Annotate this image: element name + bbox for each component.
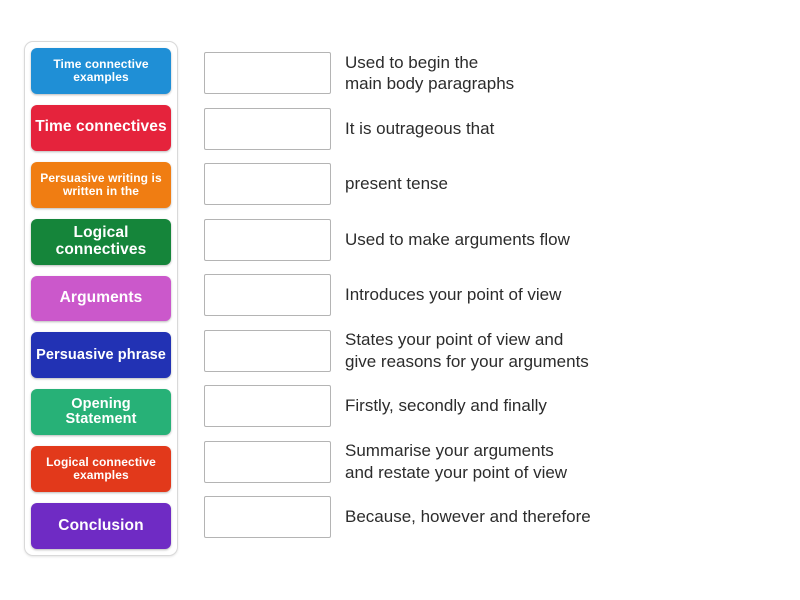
prompt-text: Used to begin the main body paragraphs — [345, 52, 784, 95]
answer-dropzone[interactable] — [204, 219, 331, 261]
answer-dropzone[interactable] — [204, 330, 331, 372]
draggable-tile[interactable]: Time connective examples — [31, 48, 171, 94]
prompt-text: present tense — [345, 173, 784, 195]
prompt-text: Used to make arguments flow — [345, 229, 784, 251]
tile-label: Opening Statement — [35, 397, 167, 428]
tile-label: Logical connective examples — [35, 456, 167, 482]
answer-dropzone[interactable] — [204, 496, 331, 538]
tile-label: Time connectives — [35, 119, 166, 136]
tile-label: Persuasive writing is written in the — [35, 172, 167, 198]
prompt-text: Summarise your arguments and restate you… — [345, 440, 784, 483]
draggable-tile[interactable]: Time connectives — [31, 105, 171, 151]
answer-dropzone[interactable] — [204, 52, 331, 94]
answer-rows: Used to begin the main body paragraphs I… — [204, 52, 784, 538]
draggable-tile[interactable]: Logical connective examples — [31, 446, 171, 492]
answer-dropzone[interactable] — [204, 274, 331, 316]
tile-label: Conclusion — [58, 518, 143, 535]
tile-bank: Time connective examples Time connective… — [24, 41, 178, 556]
match-row: Used to begin the main body paragraphs — [204, 52, 784, 94]
match-up-activity: Time connective examples Time connective… — [0, 0, 800, 600]
answer-dropzone[interactable] — [204, 163, 331, 205]
match-row: Summarise your arguments and restate you… — [204, 441, 784, 483]
prompt-text: Introduces your point of view — [345, 284, 784, 306]
draggable-tile[interactable]: Persuasive writing is written in the — [31, 162, 171, 208]
match-row: present tense — [204, 163, 784, 205]
match-row: It is outrageous that — [204, 108, 784, 150]
answer-dropzone[interactable] — [204, 385, 331, 427]
tile-label: Logical connectives — [35, 225, 167, 258]
match-row: Introduces your point of view — [204, 274, 784, 316]
answer-dropzone[interactable] — [204, 441, 331, 483]
tile-label: Arguments — [60, 290, 143, 307]
answer-dropzone[interactable] — [204, 108, 331, 150]
prompt-text: States your point of view and give reaso… — [345, 329, 784, 372]
match-row: States your point of view and give reaso… — [204, 330, 784, 372]
match-row: Because, however and therefore — [204, 496, 784, 538]
match-row: Firstly, secondly and finally — [204, 385, 784, 427]
draggable-tile[interactable]: Persuasive phrase — [31, 332, 171, 378]
tile-label: Persuasive phrase — [36, 348, 166, 364]
prompt-text: Because, however and therefore — [345, 506, 784, 528]
match-row: Used to make arguments flow — [204, 219, 784, 261]
prompt-text: Firstly, secondly and finally — [345, 395, 784, 417]
draggable-tile[interactable]: Arguments — [31, 276, 171, 322]
prompt-text: It is outrageous that — [345, 118, 784, 140]
draggable-tile[interactable]: Conclusion — [31, 503, 171, 549]
draggable-tile[interactable]: Logical connectives — [31, 219, 171, 265]
draggable-tile[interactable]: Opening Statement — [31, 389, 171, 435]
tile-label: Time connective examples — [35, 58, 167, 84]
